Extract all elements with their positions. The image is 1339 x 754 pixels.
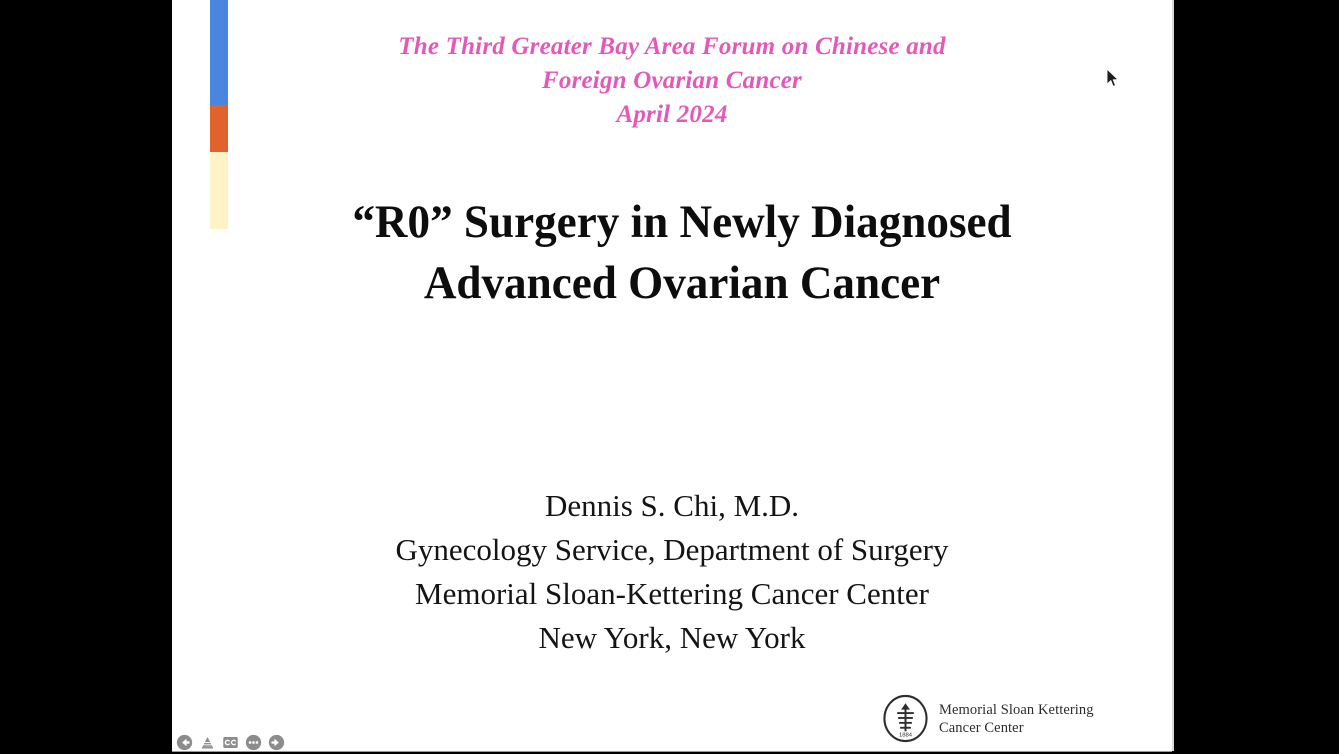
conference-header-line-3: April 2024 [172, 98, 1172, 132]
presentation-icon[interactable] [199, 734, 216, 751]
msk-logo-wordmark-line-1: Memorial Sloan Kettering [939, 701, 1094, 719]
conference-header-line-1: The Third Greater Bay Area Forum on Chin… [172, 30, 1172, 64]
conference-header: The Third Greater Bay Area Forum on Chin… [172, 30, 1172, 132]
slide-title-line-1: “R0” Surgery in Newly Diagnosed [250, 192, 1114, 253]
previous-slide-icon[interactable] [176, 734, 193, 751]
presenter-block: Dennis S. Chi, M.D. Gynecology Service, … [172, 484, 1172, 660]
presenter-name: Dennis S. Chi, M.D. [172, 484, 1172, 528]
letterbox-right [1179, 0, 1339, 754]
more-options-icon[interactable] [245, 734, 262, 751]
letterbox-left [0, 0, 172, 754]
slide-title: “R0” Surgery in Newly Diagnosed Advanced… [250, 192, 1114, 314]
presenter-department: Gynecology Service, Department of Surger… [172, 528, 1172, 572]
conference-header-line-2: Foreign Ovarian Cancer [172, 64, 1172, 98]
slide-title-line-2: Advanced Ovarian Cancer [250, 253, 1114, 314]
presenter-location: New York, New York [172, 616, 1172, 660]
presenter-institution: Memorial Sloan-Kettering Cancer Center [172, 572, 1172, 616]
next-slide-icon[interactable] [268, 734, 285, 751]
player-controls [172, 731, 1172, 753]
accent-stripe-segment-cream [210, 152, 228, 229]
presentation-viewer: The Third Greater Bay Area Forum on Chin… [0, 0, 1339, 754]
slide-canvas[interactable]: The Third Greater Bay Area Forum on Chin… [172, 0, 1172, 751]
closed-captions-icon[interactable] [222, 734, 239, 751]
